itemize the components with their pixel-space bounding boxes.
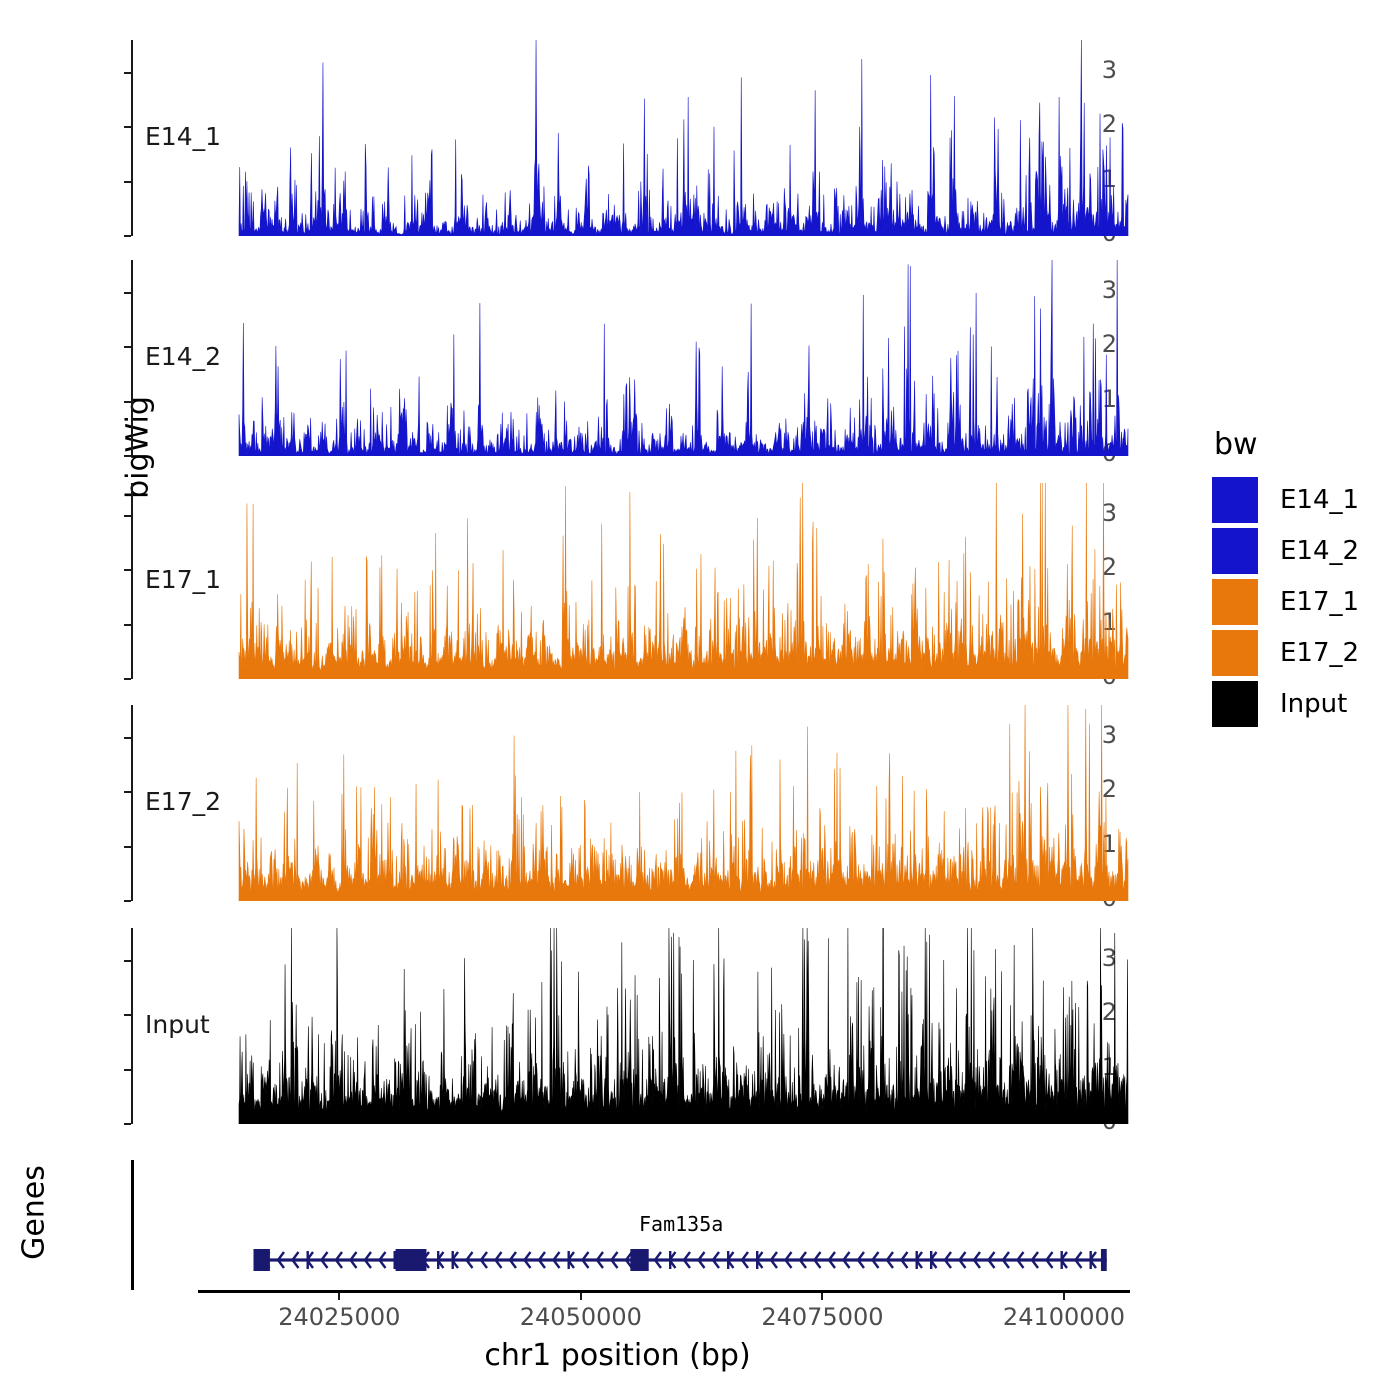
- y-tick-mark: [124, 1123, 131, 1125]
- signal-track-e14_1[interactable]: [131, 40, 1131, 236]
- y-tick-mark: [124, 624, 131, 626]
- y-tick-mark: [124, 960, 131, 962]
- signal-track-e17_2[interactable]: [131, 705, 1131, 901]
- x-tick-label: 24100000: [964, 1303, 1164, 1331]
- exon-tick: [669, 1251, 671, 1269]
- x-tick-label: 24075000: [722, 1303, 922, 1331]
- track-panel-input: 0123Input: [131, 928, 1131, 1124]
- y-tick-mark: [124, 515, 131, 517]
- legend-color-swatch: [1212, 579, 1258, 625]
- x-tick-mark: [338, 1293, 340, 1300]
- signal-area: [239, 483, 1128, 679]
- signal-area: [239, 928, 1128, 1124]
- legend-item-label: E14_2: [1280, 536, 1359, 566]
- exon-tick: [437, 1251, 439, 1269]
- figure-canvas: bigWig Genes 0123E14_10123E14_20123E17_1…: [0, 0, 1400, 1400]
- exon-tick: [307, 1251, 309, 1269]
- y-tick-mark: [124, 455, 131, 457]
- gene-exon[interactable]: [1101, 1249, 1107, 1271]
- x-tick-mark: [580, 1293, 582, 1300]
- signal-track-e14_2[interactable]: [131, 260, 1131, 456]
- y-tick-mark: [124, 791, 131, 793]
- signal-track-input[interactable]: [131, 928, 1131, 1124]
- y-tick-mark: [124, 292, 131, 294]
- signal-track-e17_1[interactable]: [131, 483, 1131, 679]
- y-tick-mark: [124, 235, 131, 237]
- y-tick-mark: [124, 1069, 131, 1071]
- legend-item-e17_1[interactable]: E17_1: [1212, 576, 1359, 627]
- signal-area: [239, 705, 1128, 901]
- exon-tick: [568, 1251, 570, 1269]
- track-panel-e17_1: 0123E17_1: [131, 483, 1131, 679]
- legend-item-label: E14_1: [1280, 485, 1359, 515]
- y-tick-mark: [124, 1014, 131, 1016]
- y-tick-mark: [124, 346, 131, 348]
- y-tick-mark: [124, 737, 131, 739]
- y-tick-mark: [124, 401, 131, 403]
- legend-color-swatch: [1212, 528, 1258, 574]
- x-tick-label: 24050000: [481, 1303, 681, 1331]
- y-tick-mark: [124, 126, 131, 128]
- y-tick-mark: [124, 846, 131, 848]
- legend-color-swatch: [1212, 681, 1258, 727]
- exon-tick: [1061, 1251, 1063, 1269]
- y-tick-mark: [124, 678, 131, 680]
- track-panel-e14_2: 0123E14_2: [131, 260, 1131, 456]
- legend-item-e14_2[interactable]: E14_2: [1212, 525, 1359, 576]
- gene-model-svg[interactable]: [131, 1160, 1131, 1295]
- exon-tick: [930, 1251, 932, 1269]
- exon-tick: [727, 1251, 729, 1269]
- genes-axis-title: Genes: [17, 1143, 52, 1283]
- genes-panel: Fam135a: [131, 1160, 1131, 1295]
- legend-item-label: E17_1: [1280, 587, 1359, 617]
- signal-area: [239, 40, 1128, 236]
- legend-title: bw: [1214, 430, 1359, 460]
- legend-item-input[interactable]: Input: [1212, 678, 1359, 729]
- gene-exon[interactable]: [253, 1249, 269, 1271]
- track-panel-e14_1: 0123E14_1: [131, 40, 1131, 236]
- gene-exon[interactable]: [630, 1249, 648, 1271]
- track-panel-e17_2: 0123E17_2: [131, 705, 1131, 901]
- y-tick-mark: [124, 72, 131, 74]
- gene-exon[interactable]: [396, 1249, 427, 1271]
- legend-item-e17_2[interactable]: E17_2: [1212, 627, 1359, 678]
- y-tick-mark: [124, 900, 131, 902]
- legend-item-label: Input: [1280, 689, 1347, 719]
- legend-item-e14_1[interactable]: E14_1: [1212, 474, 1359, 525]
- exon-tick: [1090, 1251, 1092, 1269]
- exon-tick: [756, 1251, 758, 1269]
- x-tick-mark: [821, 1293, 823, 1300]
- x-axis-title: chr1 position (bp): [100, 1338, 1135, 1373]
- y-tick-mark: [124, 569, 131, 571]
- y-tick-mark: [124, 181, 131, 183]
- exon-tick: [452, 1251, 454, 1269]
- exon-tick: [916, 1251, 918, 1269]
- legend-item-label: E17_2: [1280, 638, 1359, 668]
- legend-items: E14_1E14_2E17_1E17_2Input: [1212, 474, 1359, 729]
- exon-tick: [394, 1251, 396, 1269]
- x-tick-label: 24025000: [239, 1303, 439, 1331]
- legend-color-swatch: [1212, 630, 1258, 676]
- legend-color-swatch: [1212, 477, 1258, 523]
- legend: bw E14_1E14_2E17_1E17_2Input: [1212, 430, 1359, 729]
- x-tick-mark: [1063, 1293, 1065, 1300]
- signal-area: [239, 260, 1128, 456]
